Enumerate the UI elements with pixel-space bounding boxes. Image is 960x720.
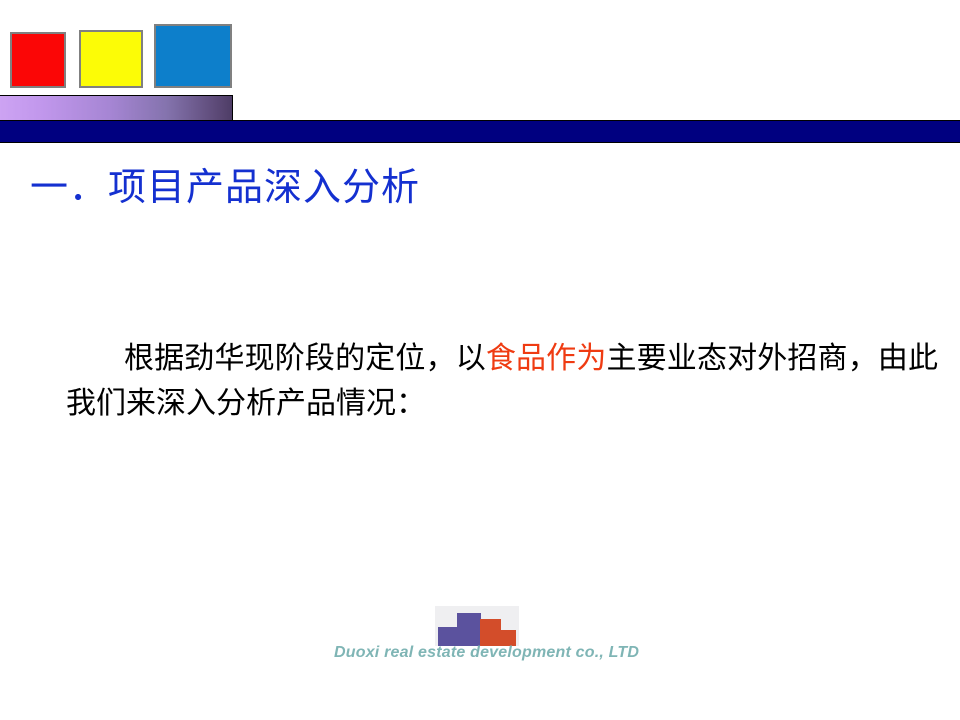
footer-logo: Duoxi real estate development co., LTD — [334, 606, 630, 666]
navy-bar — [0, 120, 960, 143]
logo-caption: Duoxi real estate development co., LTD — [334, 644, 630, 662]
purple-gradient-bar — [0, 95, 233, 121]
red-square-icon — [10, 32, 66, 88]
blue-square-icon — [154, 24, 232, 88]
yellow-square-icon — [79, 30, 143, 88]
building-logo-icon — [435, 606, 519, 646]
logo-block-orange-high — [480, 619, 501, 646]
body-segment-1: 根据劲华现阶段的定位，以 — [124, 342, 486, 375]
page-title: 一．项目产品深入分析 — [30, 167, 420, 211]
body-highlight: 食品作为 — [486, 342, 607, 375]
body-paragraph: 根据劲华现阶段的定位，以食品作为主要业态对外招商，由此我们来深入分析产品情况： — [66, 336, 938, 426]
logo-block-purple-high — [457, 613, 481, 646]
slide-canvas: 一．项目产品深入分析 根据劲华现阶段的定位，以食品作为主要业态对外招商，由此我们… — [0, 0, 960, 720]
